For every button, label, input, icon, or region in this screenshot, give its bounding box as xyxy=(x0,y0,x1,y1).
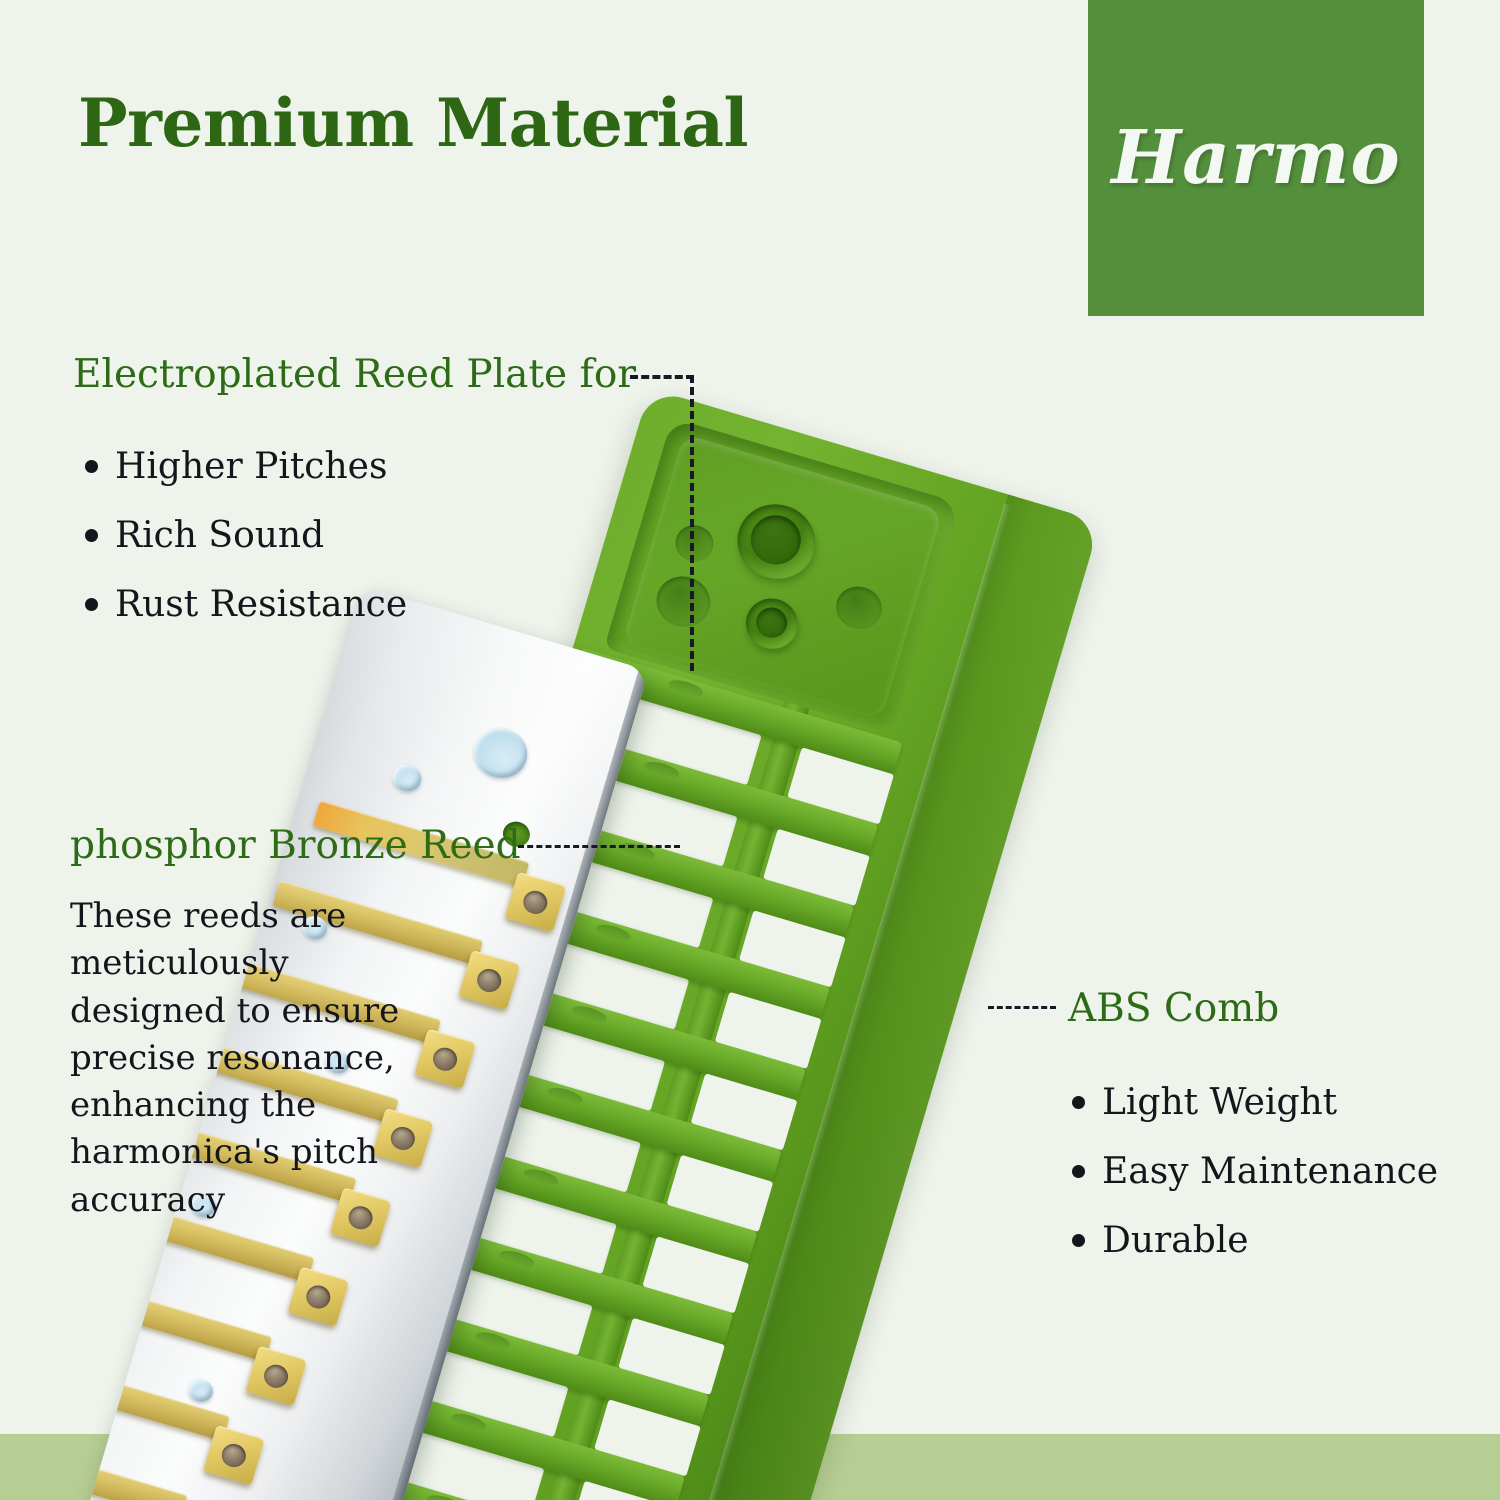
leader-line-reed-plate-vertical xyxy=(690,375,694,671)
bullet-dot-icon xyxy=(85,460,98,473)
reed-rivet xyxy=(261,1362,291,1391)
bullet-list-abs-comb: Light Weight Easy Maintenance Durable xyxy=(1072,1068,1438,1275)
reed-rivet xyxy=(219,1441,249,1470)
bullet-dot-icon xyxy=(85,529,98,542)
list-item: Rust Resistance xyxy=(85,570,407,639)
callout-heading-bronze-reed: phosphor Bronze Reed xyxy=(70,823,521,868)
bullet-label: Rich Sound xyxy=(115,501,324,570)
list-item: Higher Pitches xyxy=(85,432,407,501)
infographic-page: Premium Material Harmo Electroplated Ree… xyxy=(0,0,1500,1500)
bullet-label: Durable xyxy=(1102,1206,1249,1275)
leader-line-abs-comb xyxy=(988,1006,1056,1009)
comb-boss-hole-large xyxy=(745,509,807,570)
list-item: Durable xyxy=(1072,1206,1438,1275)
page-title: Premium Material xyxy=(78,84,748,162)
bullet-label: Light Weight xyxy=(1102,1068,1337,1137)
comb-boss-hole-small xyxy=(753,604,791,642)
bronze-reed-description: These reeds are meticulously designed to… xyxy=(70,893,415,1224)
bullet-dot-icon xyxy=(1072,1096,1085,1109)
bullet-dot-icon xyxy=(85,598,98,611)
bullet-label: Easy Maintenance xyxy=(1102,1137,1438,1206)
list-item: Rich Sound xyxy=(85,501,407,570)
reed-rivet xyxy=(430,1045,460,1074)
bullet-dot-icon xyxy=(1072,1234,1085,1247)
list-item: Easy Maintenance xyxy=(1072,1137,1438,1206)
leader-line-bronze-reed xyxy=(518,845,680,848)
leader-line-reed-plate-horizontal xyxy=(630,375,694,379)
reed-rivet xyxy=(474,966,504,995)
reed-rivet xyxy=(304,1283,334,1312)
brand-logo: Harmo xyxy=(1088,0,1424,316)
callout-heading-abs-comb: ABS Comb xyxy=(1068,986,1279,1031)
reed-rivet xyxy=(521,888,551,917)
list-item: Light Weight xyxy=(1072,1068,1438,1137)
bullet-label: Higher Pitches xyxy=(115,432,387,501)
callout-heading-reed-plate: Electroplated Reed Plate for xyxy=(73,352,636,397)
bullet-label: Rust Resistance xyxy=(115,570,407,639)
brand-logo-text: Harmo xyxy=(1088,0,1424,316)
bullet-list-reed-plate: Higher Pitches Rich Sound Rust Resistanc… xyxy=(85,432,407,639)
bullet-dot-icon xyxy=(1072,1165,1085,1178)
